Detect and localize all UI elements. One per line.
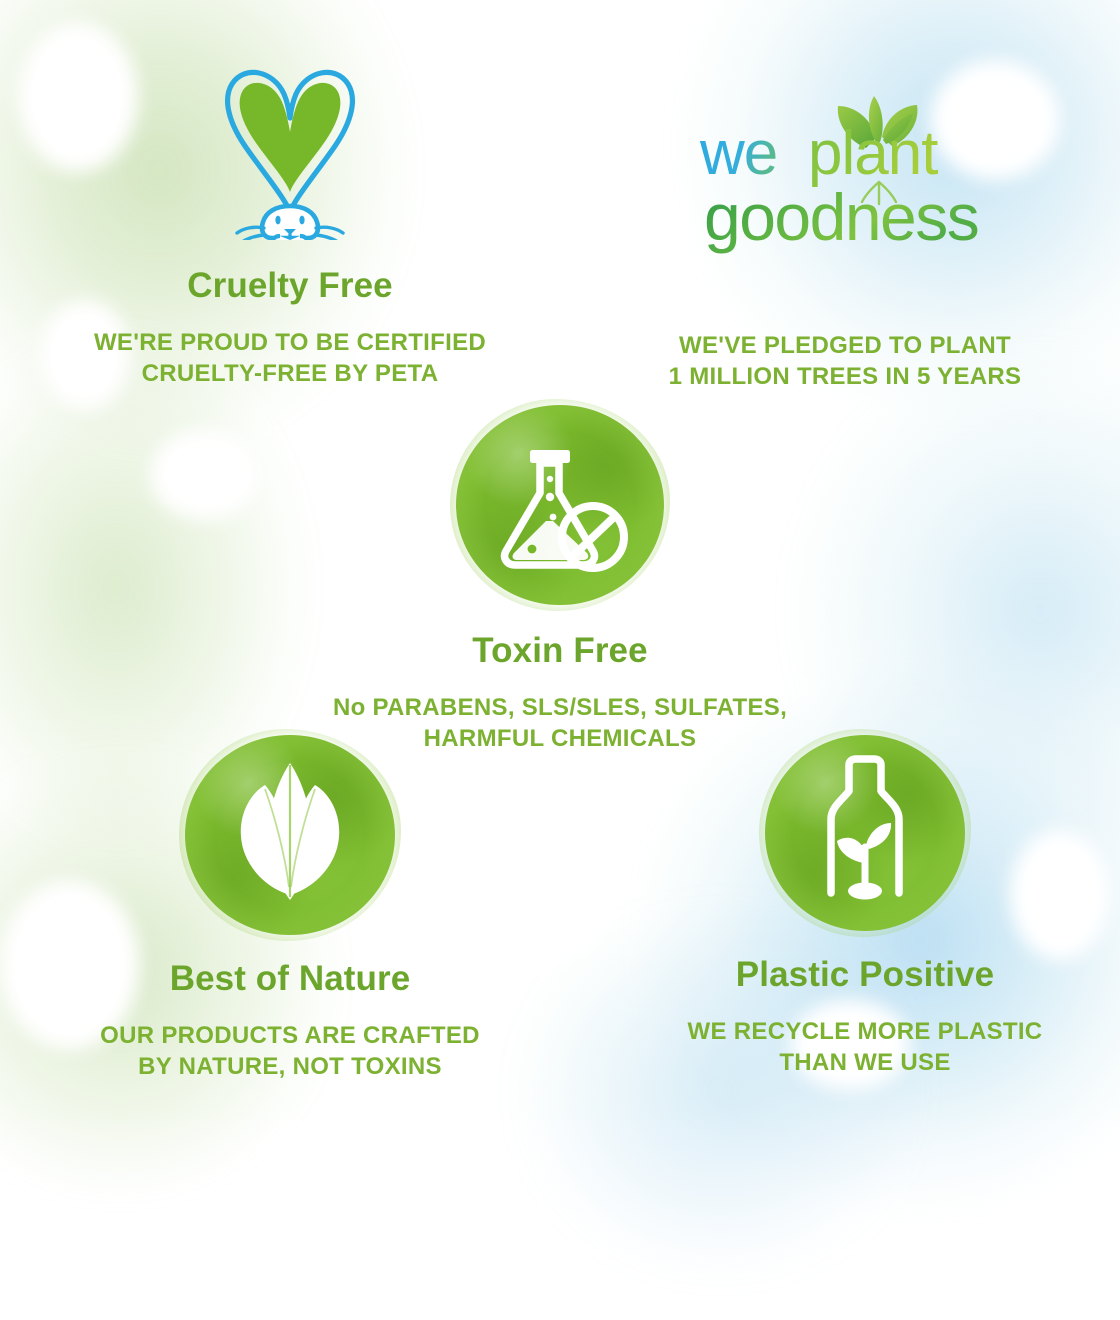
badge-desc-line: THAN WE USE xyxy=(610,1047,1120,1078)
badge-title-plastic-positive: Plastic Positive xyxy=(610,957,1120,994)
badge-desc-line: OUR PRODUCTS ARE CRAFTED xyxy=(20,1020,560,1051)
badge-plastic-positive: Plastic Positive WE RECYCLE MORE PLASTIC… xyxy=(610,735,1120,1078)
badge-best-of-nature: Best of Nature OUR PRODUCTS ARE CRAFTED … xyxy=(20,735,560,1082)
badge-title-toxin-free: Toxin Free xyxy=(290,633,830,670)
badge-desc-line: No PARABENS, SLS/SLES, SULFATES, xyxy=(290,692,830,723)
badge-desc-line: 1 MILLION TREES IN 5 YEARS xyxy=(590,361,1100,392)
badge-desc-line: WE'RE PROUD TO BE CERTIFIED xyxy=(25,327,555,358)
svg-text:plant: plant xyxy=(808,119,938,188)
badge-desc-line: BY NATURE, NOT TOXINS xyxy=(20,1051,560,1082)
peta-bunny-heart-icon xyxy=(25,40,555,240)
svg-text:goodness: goodness xyxy=(704,180,978,254)
flask-no-toxins-icon xyxy=(456,405,664,605)
badge-toxin-free: Toxin Free No PARABENS, SLS/SLES, SULFAT… xyxy=(290,405,830,754)
badge-desc-line: WE RECYCLE MORE PLASTIC xyxy=(610,1016,1120,1047)
badge-title-best-of-nature: Best of Nature xyxy=(20,961,560,998)
badge-title-cruelty-free: Cruelty Free xyxy=(25,268,555,305)
svg-text:we: we xyxy=(699,119,777,188)
badge-desc-line: WE'VE PLEDGED TO PLANT xyxy=(590,330,1100,361)
bottle-sprout-icon xyxy=(765,735,965,931)
we-plant-goodness-logo: we plant goodness xyxy=(590,90,1100,270)
infographic-canvas: Cruelty Free WE'RE PROUD TO BE CERTIFIED… xyxy=(0,0,1120,1120)
three-leaves-icon xyxy=(185,735,395,935)
badge-cruelty-free: Cruelty Free WE'RE PROUD TO BE CERTIFIED… xyxy=(25,40,555,389)
badge-we-plant-goodness: we plant goodness WE'VE PLEDGED TO PLANT… xyxy=(590,90,1100,392)
badge-desc-line: CRUELTY-FREE BY PETA xyxy=(25,358,555,389)
